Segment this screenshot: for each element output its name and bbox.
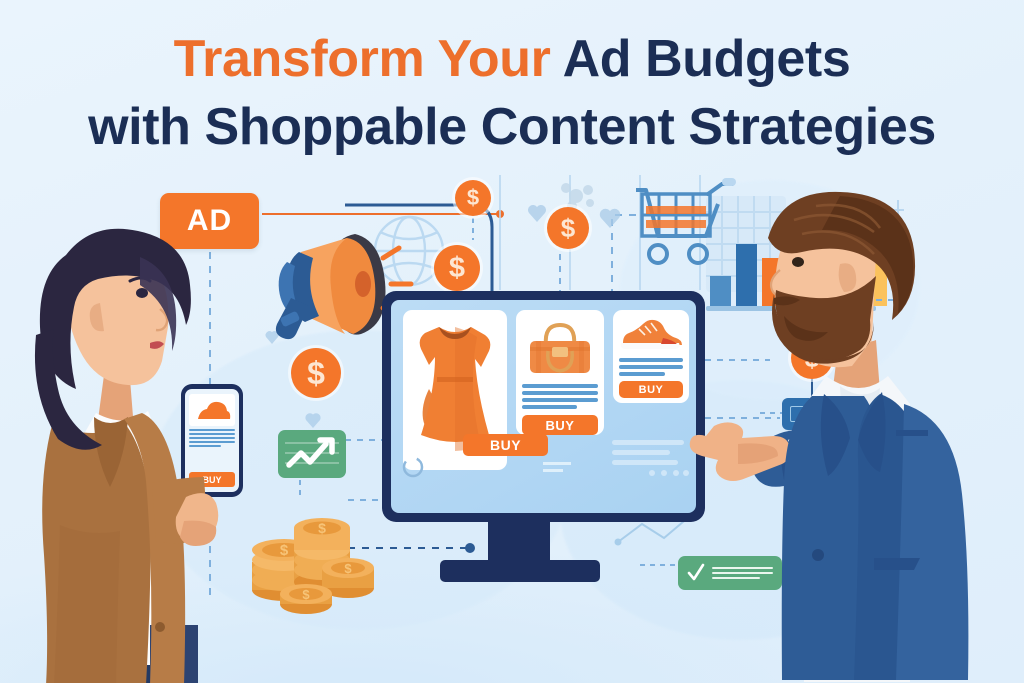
product-text-lines — [522, 384, 598, 409]
monitor-neck — [488, 520, 550, 564]
desktop-monitor[interactable]: BUY — [382, 291, 705, 522]
product-card-sneaker[interactable]: BUY — [613, 310, 689, 403]
buy-button-handbag[interactable]: BUY — [522, 415, 598, 435]
title-line-1: Transform Your Ad Budgets — [0, 26, 1024, 94]
handbag-icon — [522, 317, 598, 379]
man-presenting — [690, 190, 1024, 683]
dollar-coin-icon: $ — [547, 207, 589, 249]
dollar-coin-icon: $ — [434, 245, 480, 291]
monitor-base — [440, 560, 600, 582]
dollar-coin-icon: $ — [291, 348, 341, 398]
svg-text:$: $ — [344, 561, 352, 576]
product-card-handbag[interactable]: BUY — [516, 310, 604, 435]
product-card-dress[interactable]: BUY — [403, 310, 507, 470]
loading-spinner-icon — [401, 455, 425, 479]
pagination-dots-icon[interactable] — [646, 468, 690, 478]
coin-stack-icon: $ $ $ $ — [244, 506, 374, 614]
product-text-lines — [619, 358, 683, 376]
buy-button-sneaker[interactable]: BUY — [619, 381, 683, 398]
screen-meta-lines — [543, 462, 571, 472]
growth-arrow-icon — [278, 430, 346, 478]
dollar-coin-icon: $ — [455, 180, 491, 216]
screen-side-lines — [612, 440, 684, 465]
page-title: Transform Your Ad Budgets with Shoppable… — [0, 26, 1024, 161]
title-line-2: with Shoppable Content Strategies — [0, 94, 1024, 162]
megaphone-icon — [263, 228, 398, 343]
title-line-1-rest: Ad Budgets — [550, 30, 850, 88]
title-highlight: Transform Your — [174, 30, 551, 88]
buy-button-dress[interactable]: BUY — [463, 434, 548, 456]
svg-text:$: $ — [302, 587, 310, 602]
sneaker-icon — [619, 317, 683, 353]
woman-holding-phone — [0, 225, 215, 683]
monitor-screen: BUY — [391, 300, 696, 513]
svg-text:$: $ — [318, 520, 326, 536]
svg-text:$: $ — [280, 542, 289, 559]
poster-canvas: Transform Your Ad Budgets with Shoppable… — [0, 0, 1024, 683]
